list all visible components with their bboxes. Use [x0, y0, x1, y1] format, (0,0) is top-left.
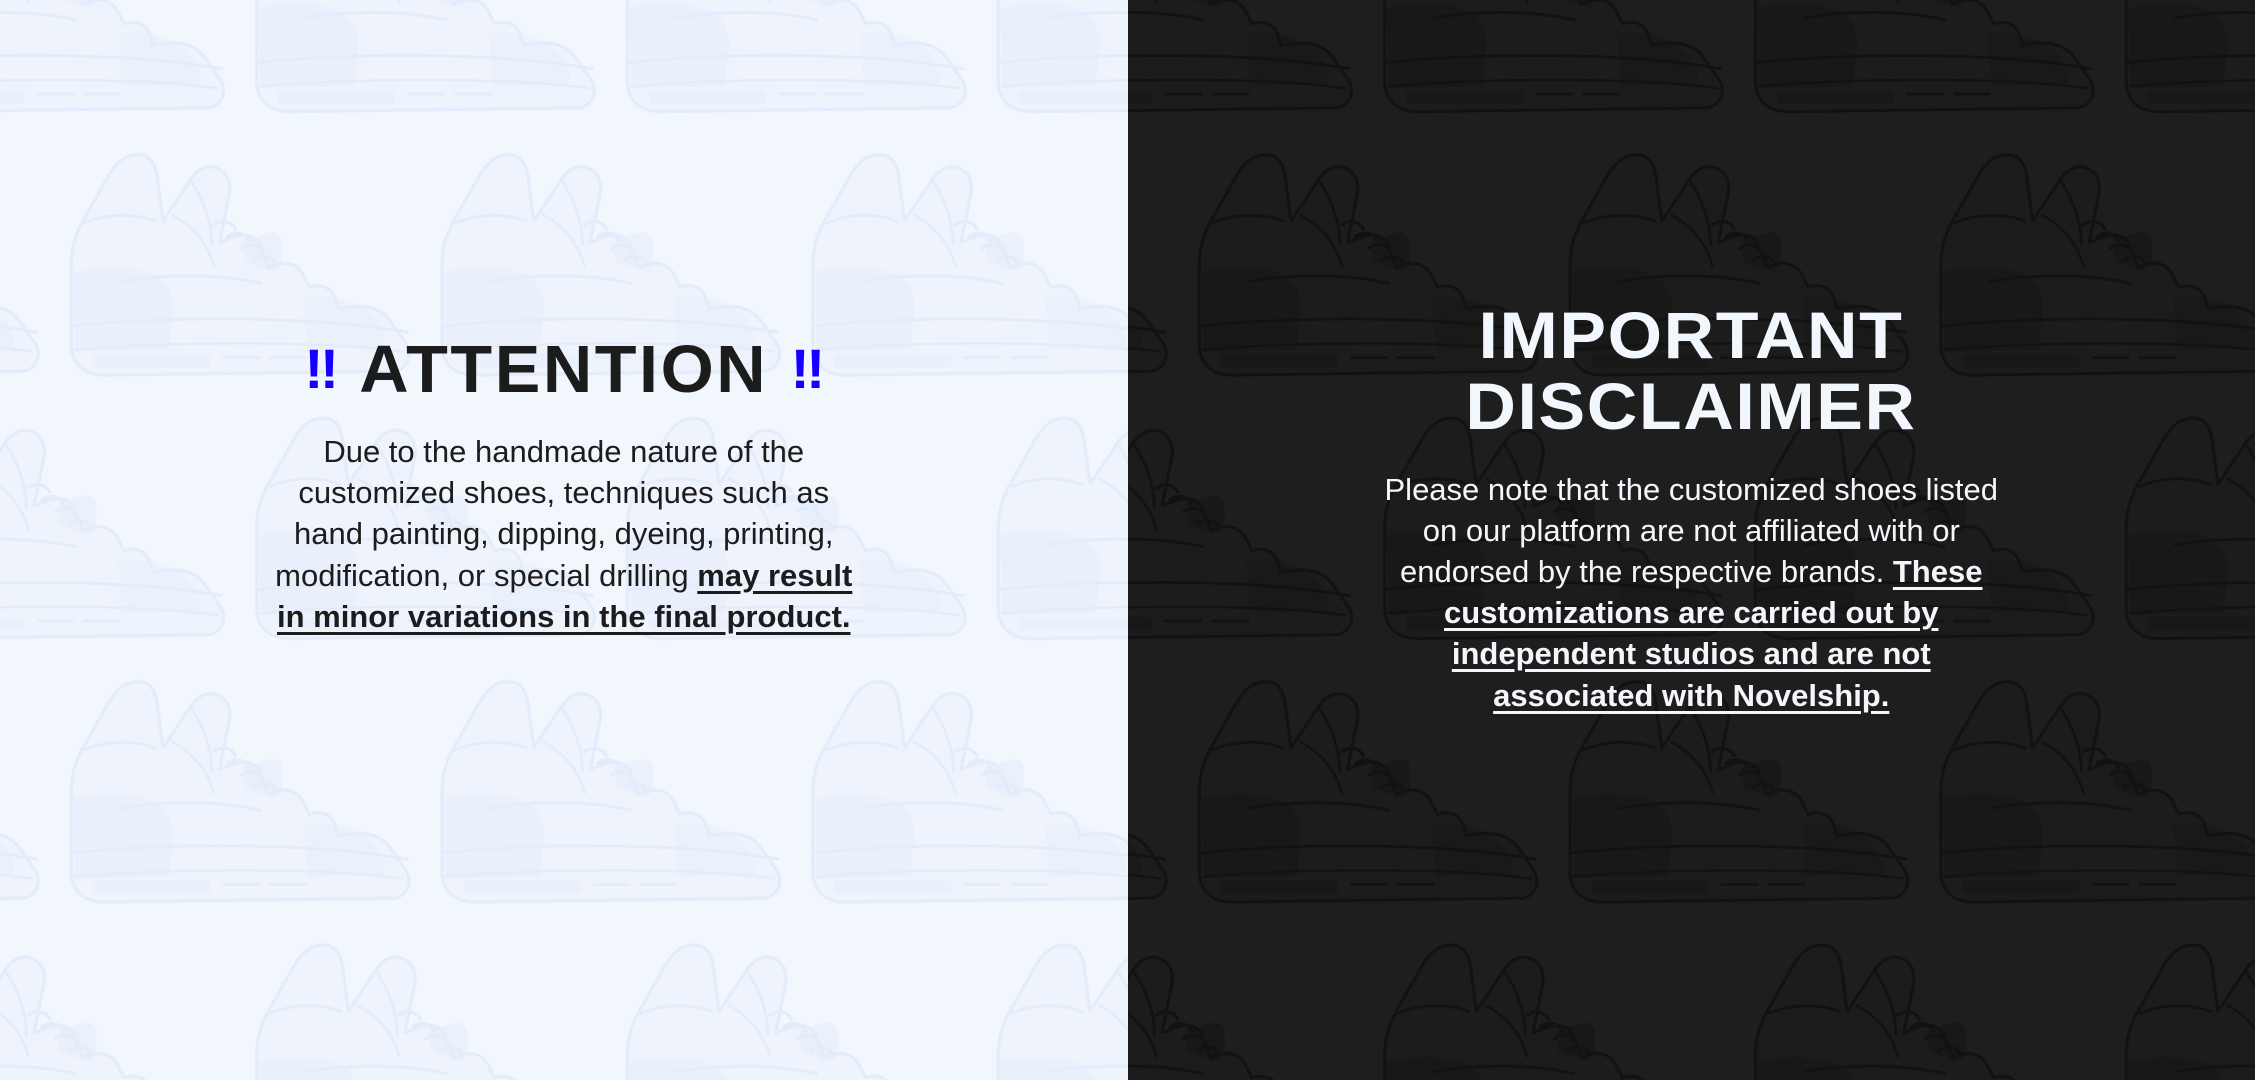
- attention-content: ‼ATTENTION‼ Due to the handmade nature o…: [0, 336, 1128, 637]
- attention-heading-text: ATTENTION: [359, 332, 768, 407]
- double-exclamation-right-icon: ‼: [791, 337, 823, 400]
- attention-body: Due to the handmade nature of the custom…: [264, 431, 864, 637]
- attention-panel: ‼ATTENTION‼ Due to the handmade nature o…: [0, 0, 1128, 1080]
- disclaimer-banner: ‼ATTENTION‼ Due to the handmade nature o…: [0, 0, 2255, 1080]
- disclaimer-body: Please note that the customized shoes li…: [1371, 469, 2011, 716]
- double-exclamation-left-icon: ‼: [304, 337, 336, 400]
- disclaimer-panel: IMPORTANTDISCLAIMER Please note that the…: [1128, 0, 2255, 1080]
- disclaimer-heading-line1: IMPORTANT: [1479, 298, 1904, 372]
- disclaimer-heading-line2: DISCLAIMER: [1466, 369, 1917, 443]
- attention-heading: ‼ATTENTION‼: [0, 336, 1128, 403]
- disclaimer-content: IMPORTANTDISCLAIMER Please note that the…: [1128, 300, 2255, 716]
- disclaimer-heading: IMPORTANTDISCLAIMER: [1320, 300, 2062, 443]
